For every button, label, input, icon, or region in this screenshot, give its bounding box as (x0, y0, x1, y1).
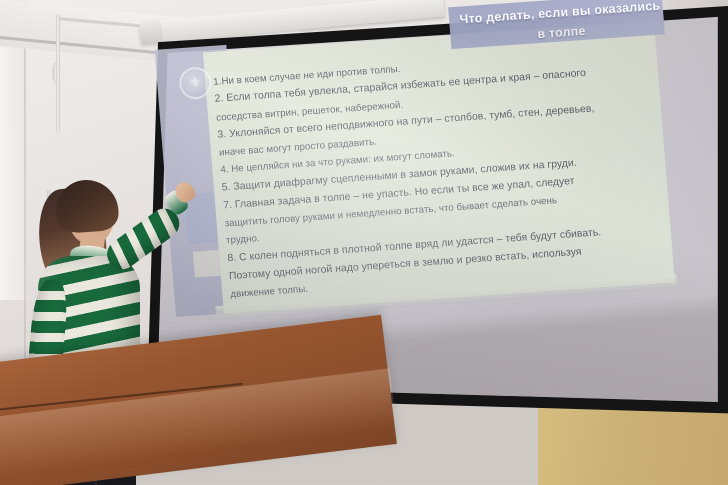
slide-body-text: 1.Ни в коем случае не иди против толпы.2… (213, 43, 678, 304)
projected-slide: ⚜ Что делать, если вы оказались в толпе … (152, 0, 677, 347)
pipe-bend (52, 62, 64, 84)
presenter-hair-front (54, 178, 119, 234)
classroom-photo-scene: ⚜ Что делать, если вы оказались в толпе … (0, 0, 728, 485)
